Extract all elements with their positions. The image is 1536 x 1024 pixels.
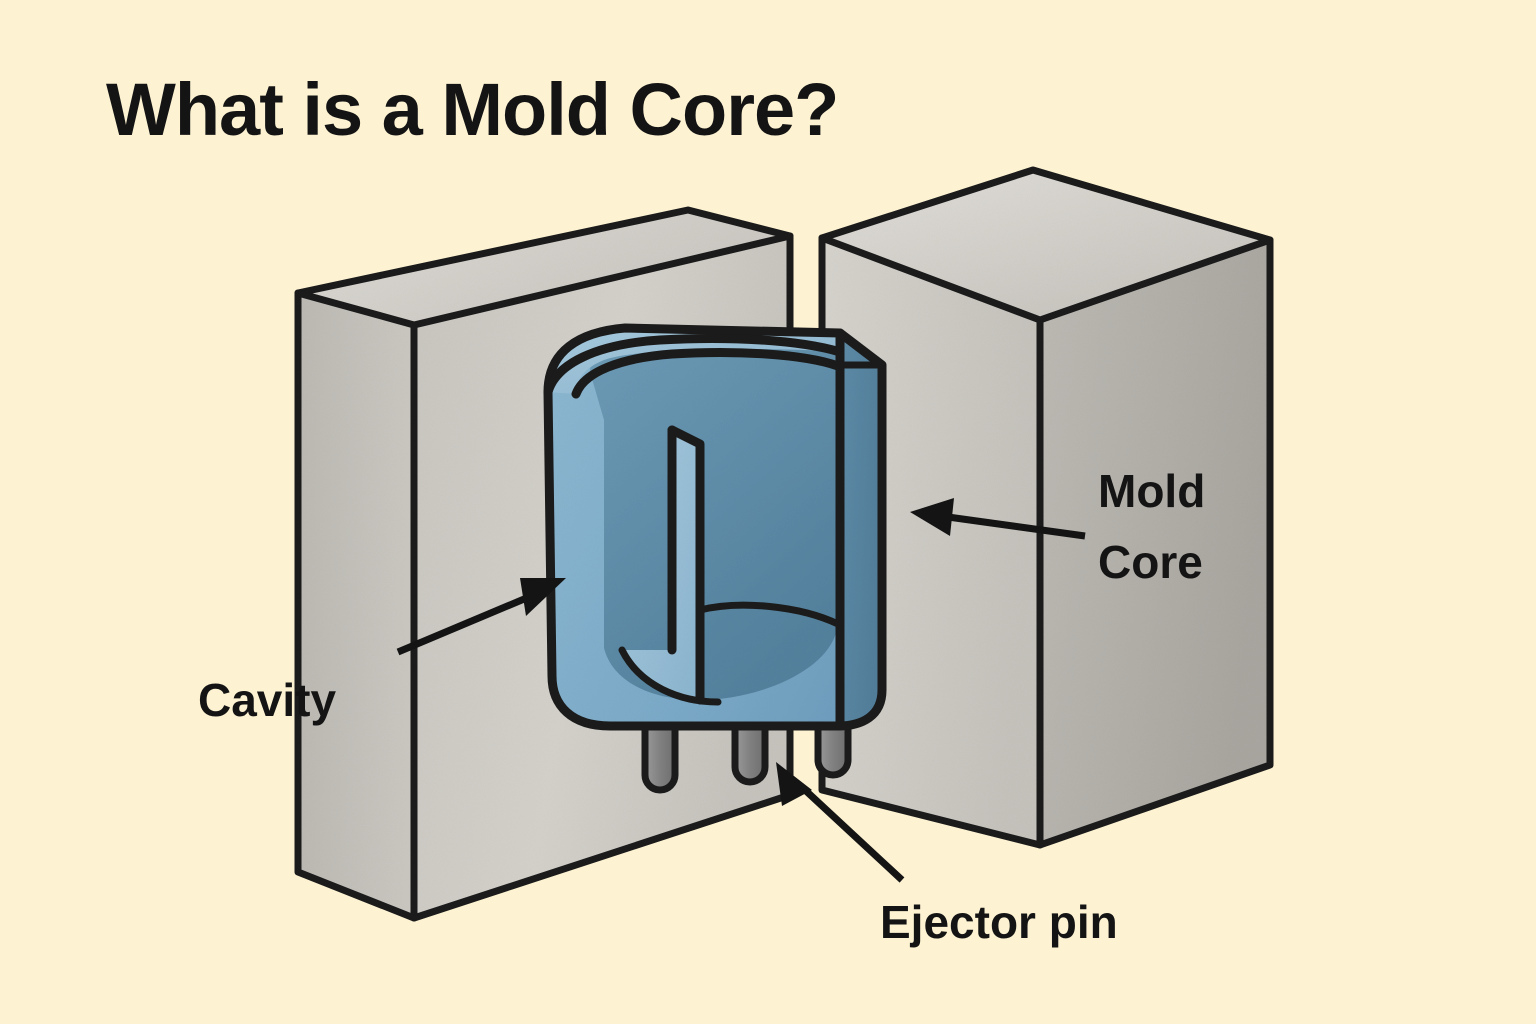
mold-core-diagram: What is a Mold Core? [0,0,1536,1024]
part-inner-cavity [590,336,838,700]
part-cut-face-right [838,333,882,726]
label-mold-core-line2: Core [1098,536,1203,588]
label-ejector-pin: Ejector pin [880,896,1118,948]
page-title: What is a Mold Core? [106,68,838,151]
diagram-canvas: What is a Mold Core? [0,0,1536,1024]
molded-part [548,328,882,726]
label-mold-core-line1: Mold [1098,465,1205,517]
left-plate-side-face [298,293,414,918]
label-cavity: Cavity [198,674,336,726]
